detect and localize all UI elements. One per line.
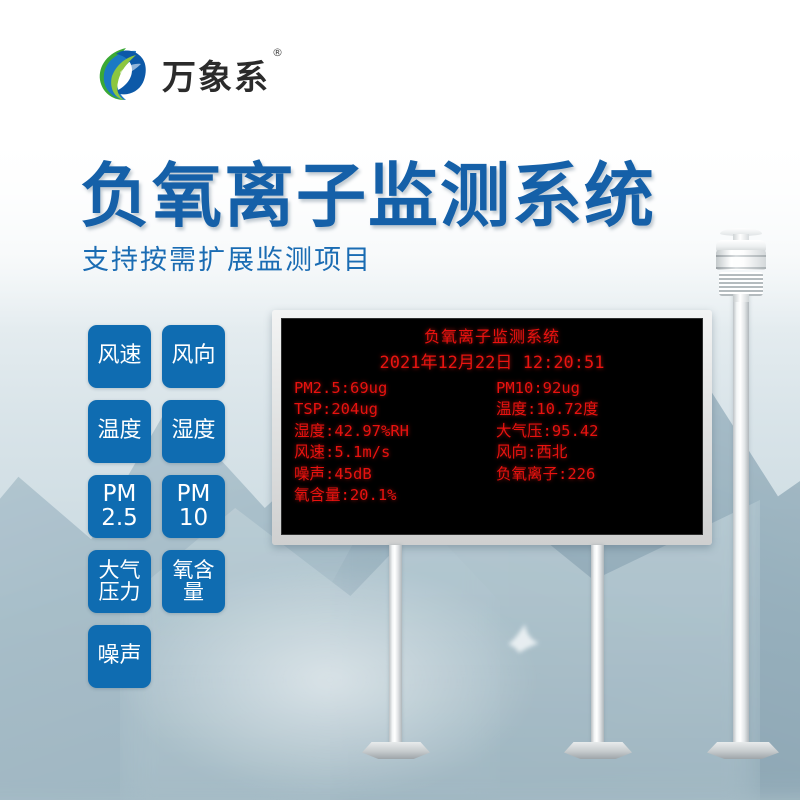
reading-negative-ions: 负氧离子:226 xyxy=(496,464,692,484)
tag-humidity[interactable]: 湿度 xyxy=(162,400,225,463)
tag-label-line2: 10 xyxy=(179,507,208,531)
reading-pm25: PM2.5:69ug xyxy=(294,378,490,398)
brand-logo: 万象系 ® xyxy=(96,46,270,102)
tag-label-line1: 大气 xyxy=(99,560,141,582)
reading-oxygen: 氧含量:20.1% xyxy=(294,485,490,505)
weather-sensor-head-icon xyxy=(706,228,776,300)
tag-label: 风向 xyxy=(171,345,215,368)
tag-label-line1: PM xyxy=(103,483,137,507)
led-datetime: 2021年12月22日 12:20:51 xyxy=(282,348,702,373)
tag-label-line1: PM xyxy=(177,483,211,507)
led-display-frame: 负氧离子监测系统 2021年12月22日 12:20:51 PM2.5:69ug… xyxy=(272,310,712,545)
swirl-globe-logo-icon xyxy=(96,46,148,102)
tag-label: 温度 xyxy=(97,420,141,443)
reading-wind-direction: 风向:西北 xyxy=(496,442,692,462)
tag-label: 湿度 xyxy=(171,420,215,443)
base-plate-mast xyxy=(707,742,779,759)
led-screen-title: 负氧离子监测系统 xyxy=(282,323,702,347)
reading-pm10: PM10:92ug xyxy=(496,378,692,398)
tag-pm10[interactable]: PM 10 xyxy=(162,475,225,538)
reading-wind-speed: 风速:5.1m/s xyxy=(294,442,490,462)
sensor-ring-upper xyxy=(716,255,766,257)
sensor-radiation-shield xyxy=(719,272,763,296)
product-poster: 万象系 ® 负氧离子监测系统 支持按需扩展监测项目 风速 风向 温度 湿度 PM… xyxy=(0,0,800,800)
reading-tsp: TSP:204ug xyxy=(294,399,490,419)
tag-pm25[interactable]: PM 2.5 xyxy=(88,475,151,538)
sensor-stem xyxy=(733,294,749,302)
tag-oxygen-content[interactable]: 氧含 量 xyxy=(162,550,225,613)
tag-label-line2: 量 xyxy=(183,582,204,604)
tag-air-pressure[interactable]: 大气 压力 xyxy=(88,550,151,613)
support-pole-right xyxy=(591,545,604,753)
feature-tag-grid: 风速 风向 温度 湿度 PM 2.5 PM 10 大气 压力 氧含 量 噪声 xyxy=(88,325,225,688)
brand-name-wrap: 万象系 ® xyxy=(162,50,270,99)
reading-noise: 噪声:45dB xyxy=(294,464,490,484)
tag-label-line2: 2.5 xyxy=(101,507,138,531)
support-pole-left xyxy=(389,545,402,753)
flying-bird-icon xyxy=(505,620,545,654)
brand-name: 万象系 xyxy=(162,58,270,98)
page-title: 负氧离子监测系统 xyxy=(80,140,656,241)
reading-air-pressure: 大气压:95.42 xyxy=(496,421,692,441)
tag-label: 噪声 xyxy=(97,645,141,668)
tag-wind-direction[interactable]: 风向 xyxy=(162,325,225,388)
registered-mark: ® xyxy=(272,46,285,59)
led-readings-grid: PM2.5:69ug PM10:92ug TSP:204ug 温度:10.72度… xyxy=(282,378,702,506)
page-subtitle: 支持按需扩展监测项目 xyxy=(82,238,372,277)
tag-noise[interactable]: 噪声 xyxy=(88,625,151,688)
sensor-ring-lower xyxy=(716,267,766,269)
tag-wind-speed[interactable]: 风速 xyxy=(88,325,151,388)
reading-humidity: 湿度:42.97%RH xyxy=(294,421,490,441)
led-display-screen: 负氧离子监测系统 2021年12月22日 12:20:51 PM2.5:69ug… xyxy=(281,318,703,535)
reading-temperature: 温度:10.72度 xyxy=(496,399,692,419)
tag-label-line1: 氧含 xyxy=(173,560,215,582)
base-plate-right xyxy=(564,742,632,759)
tag-label: 风速 xyxy=(97,345,141,368)
tag-label-line2: 压力 xyxy=(99,582,141,604)
tag-temperature[interactable]: 温度 xyxy=(88,400,151,463)
sensor-mast xyxy=(733,286,749,754)
base-plate-left xyxy=(362,742,430,759)
